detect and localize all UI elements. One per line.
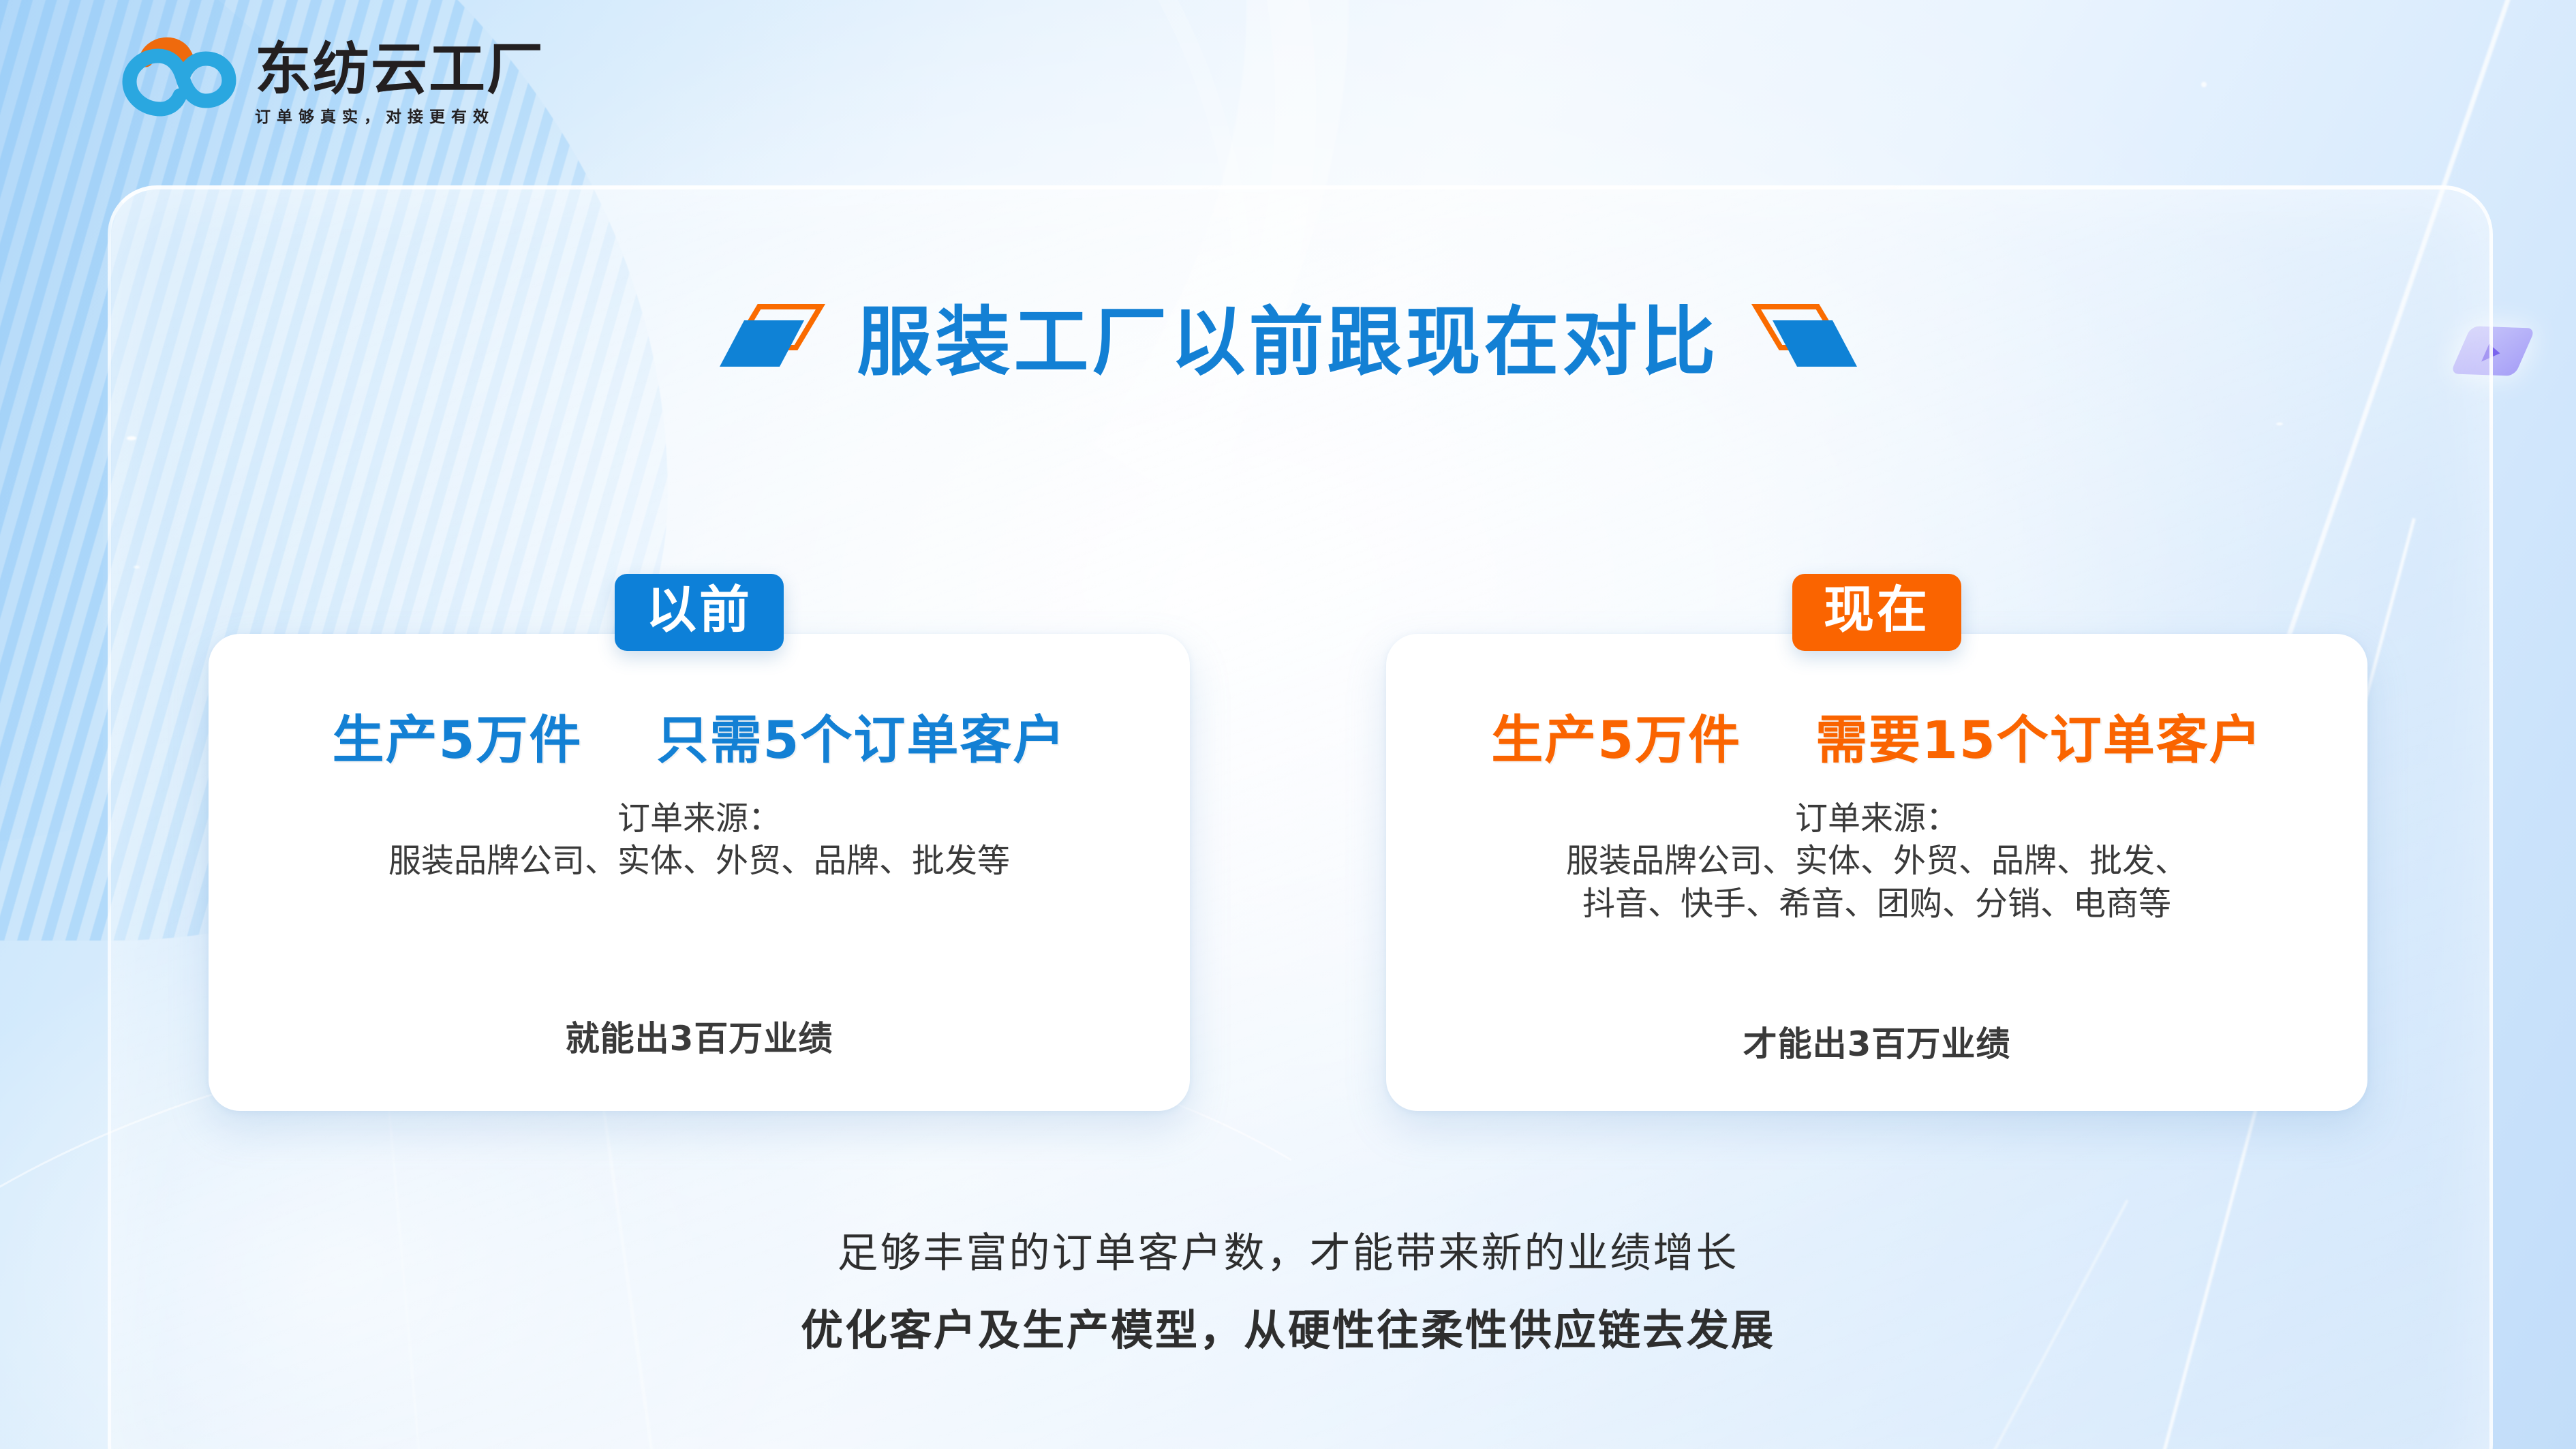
sparkle-icon [2201, 82, 2207, 87]
footer-line-2: 优化客户及生产模型，从硬性往柔性供应链去发展 [801, 1296, 1775, 1357]
parallelogram-decoration-left-icon [717, 297, 826, 373]
card-before-headline: 生产5万件 只需5个订单客户 [333, 698, 1067, 773]
card-before-headline-a: 生产5万件 [333, 710, 583, 770]
card-now: 现在 生产5万件 需要15个订单客户 订单来源： 服装品牌公司、实体、外贸、品牌… [1386, 634, 2367, 1111]
card-before-badge: 以前 [615, 574, 784, 651]
card-now-result: 才能出3百万业绩 [1743, 1017, 2011, 1066]
page-title: 服装工厂以前跟现在对比 [857, 281, 1719, 390]
card-now-source-label: 订单来源： [1566, 797, 2188, 840]
card-now-source-line-1: 服装品牌公司、实体、外贸、品牌、批发、 [1566, 840, 2188, 882]
brand-tagline: 订单够真实，对接更有效 [255, 104, 545, 127]
card-now-headline: 生产5万件 需要15个订单客户 [1491, 698, 2263, 773]
card-now-source: 订单来源： 服装品牌公司、实体、外贸、品牌、批发、 抖音、快手、希音、团购、分销… [1566, 797, 2188, 925]
comparison-cards: 以前 生产5万件 只需5个订单客户 订单来源： 服装品牌公司、实体、外贸、品牌、… [0, 634, 2576, 1111]
card-before-source-label: 订单来源： [388, 797, 1010, 840]
card-now-headline-a: 生产5万件 [1491, 710, 1741, 770]
card-before-source: 订单来源： 服装品牌公司、实体、外贸、品牌、批发等 [388, 797, 1010, 883]
card-now-headline-b: 需要15个订单客户 [1815, 710, 2263, 770]
card-now-source-line-2: 抖音、快手、希音、团购、分销、电商等 [1566, 883, 2188, 925]
card-now-badge: 现在 [1792, 574, 1961, 651]
page-title-row: 服装工厂以前跟现在对比 [0, 281, 2576, 390]
card-before-source-line-1: 服装品牌公司、实体、外贸、品牌、批发等 [388, 840, 1010, 882]
card-before: 以前 生产5万件 只需5个订单客户 订单来源： 服装品牌公司、实体、外贸、品牌、… [209, 634, 1190, 1111]
card-before-result: 就能出3百万业绩 [566, 1011, 833, 1061]
footer-message: 足够丰富的订单客户数，才能带来新的业绩增长 优化客户及生产模型，从硬性往柔性供应… [0, 1220, 2576, 1357]
card-before-headline-b: 只需5个订单客户 [656, 710, 1066, 770]
footer-line-1: 足够丰富的订单客户数，才能带来新的业绩增长 [838, 1220, 1739, 1279]
cloud-infinity-logo-icon [120, 35, 245, 123]
parallelogram-decoration-right-icon [1751, 297, 1860, 373]
brand-logo: 东纺云工厂 订单够真实，对接更有效 [120, 35, 545, 127]
brand-name: 东纺云工厂 [255, 41, 545, 97]
